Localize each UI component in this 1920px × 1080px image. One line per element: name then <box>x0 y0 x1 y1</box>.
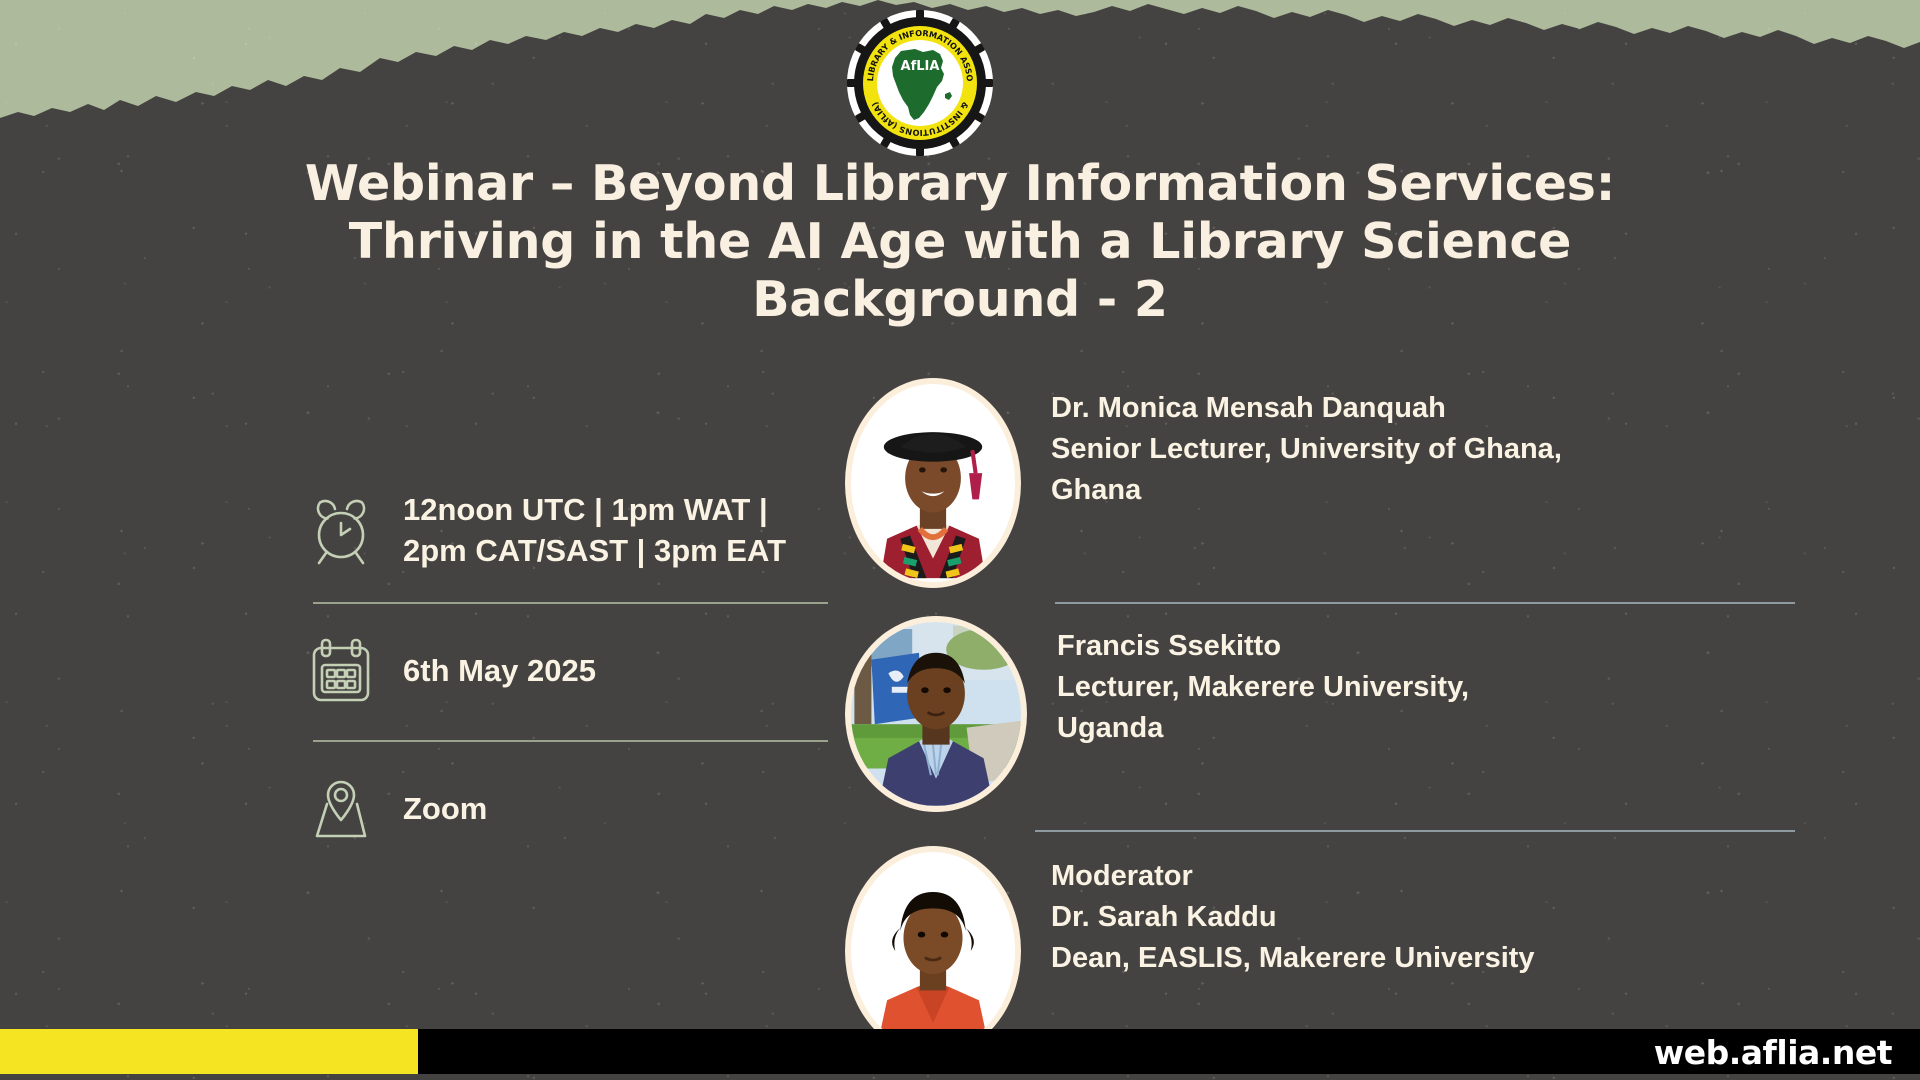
detail-row-time: 12noon UTC | 1pm WAT | 2pm CAT/SAST | 3p… <box>305 490 865 572</box>
speaker-info: Moderator Dr. Sarah Kaddu Dean, EASLIS, … <box>1051 846 1535 980</box>
detail-row-location: Zoom <box>305 772 865 848</box>
speaker-name: Dr. Monica Mensah Danquah <box>1051 388 1562 429</box>
aflia-logo: AFRICAN LIBRARY & INFORMATION ASSOCIATIO… <box>845 8 995 158</box>
map-pin-icon <box>305 772 377 848</box>
speaker-country: Ghana <box>1051 470 1562 511</box>
speakers-divider-1 <box>1055 602 1795 604</box>
detail-time-line-2: 2pm CAT/SAST | 3pm EAT <box>403 533 786 568</box>
detail-time-line-1: 12noon UTC | 1pm WAT | <box>403 492 768 527</box>
avatar <box>845 378 1021 588</box>
details-divider-2 <box>313 740 828 742</box>
details-divider-1 <box>313 602 828 604</box>
speaker-card: Moderator Dr. Sarah Kaddu Dean, EASLIS, … <box>845 846 1805 1056</box>
speaker-info: Dr. Monica Mensah Danquah Senior Lecture… <box>1051 378 1562 512</box>
detail-location-text: Zoom <box>403 789 487 830</box>
detail-time-text: 12noon UTC | 1pm WAT | 2pm CAT/SAST | 3p… <box>403 490 786 572</box>
avatar <box>845 616 1027 812</box>
avatar <box>845 846 1021 1056</box>
speaker-country: Uganda <box>1057 708 1469 749</box>
title-line-1: Webinar – Beyond Library Information Ser… <box>160 155 1760 213</box>
speaker-name: Francis Ssekitto <box>1057 626 1469 667</box>
speaker-role: Senior Lecturer, University of Ghana, <box>1051 429 1562 470</box>
svg-text:AfLIA: AfLIA <box>901 59 940 74</box>
title-line-2: Thriving in the AI Age with a Library Sc… <box>160 213 1760 271</box>
moderator-label: Moderator <box>1051 856 1535 897</box>
speaker-role: Lecturer, Makerere University, <box>1057 667 1469 708</box>
title-line-3: Background - 2 <box>160 271 1760 329</box>
speakers-divider-2 <box>1035 830 1795 832</box>
detail-date-text: 6th May 2025 <box>403 651 596 692</box>
speaker-role: Dean, EASLIS, Makerere University <box>1051 938 1535 979</box>
speakers-column: Dr. Monica Mensah Danquah Senior Lecture… <box>845 378 1805 1056</box>
speaker-card: Dr. Monica Mensah Danquah Senior Lecture… <box>845 378 1805 588</box>
website-url[interactable]: web.aflia.net <box>1654 1033 1892 1072</box>
calendar-icon <box>305 634 377 710</box>
page-title: Webinar – Beyond Library Information Ser… <box>160 155 1760 328</box>
speaker-info: Francis Ssekitto Lecturer, Makerere Univ… <box>1057 616 1469 750</box>
event-details-column: 12noon UTC | 1pm WAT | 2pm CAT/SAST | 3p… <box>305 490 865 848</box>
alarm-clock-icon <box>305 493 377 569</box>
speaker-card: Francis Ssekitto Lecturer, Makerere Univ… <box>845 616 1805 812</box>
footer-accent-block <box>0 1029 418 1074</box>
speaker-name: Dr. Sarah Kaddu <box>1051 897 1535 938</box>
detail-row-date: 6th May 2025 <box>305 634 865 710</box>
